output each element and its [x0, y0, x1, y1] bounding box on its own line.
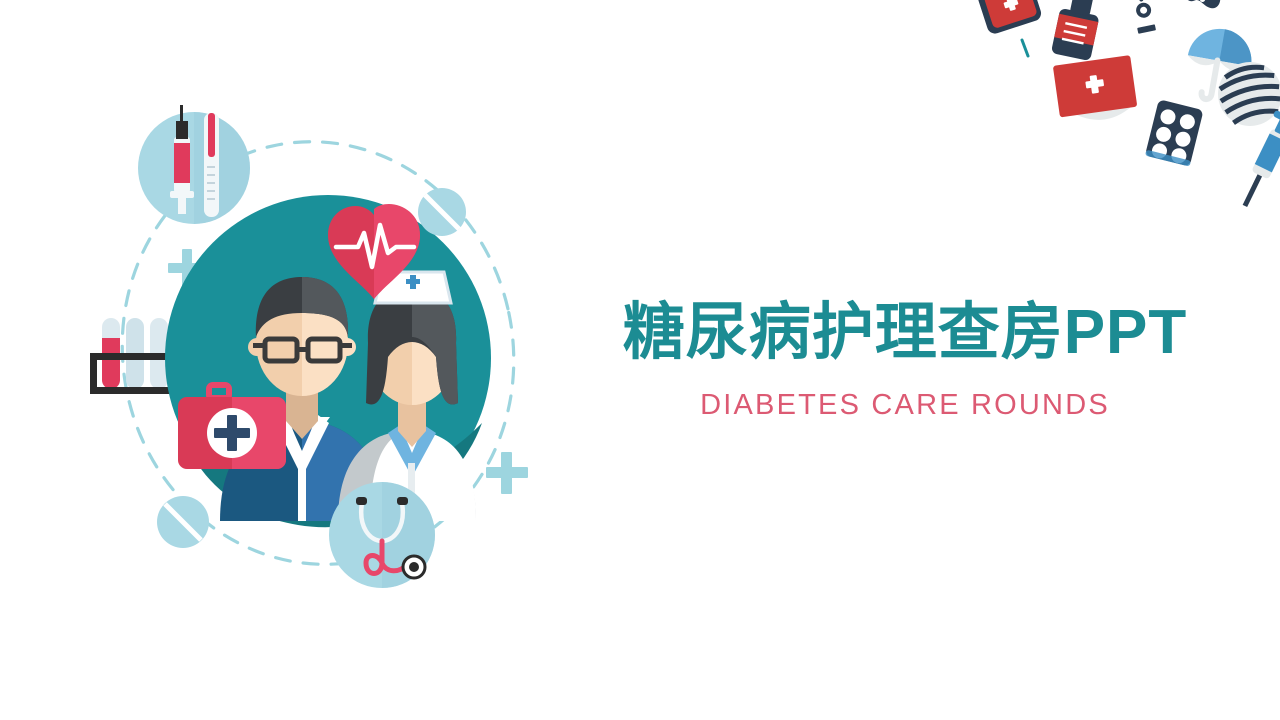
syringe-thermometer-icon [138, 105, 250, 224]
tick-mark-accent [1022, 40, 1028, 56]
topright-illustration-group [950, 0, 1280, 217]
first-aid-kit-icon [1053, 55, 1138, 120]
presentation-slide: 糖尿病护理查房PPT DIABETES CARE ROUNDS [0, 0, 1280, 720]
tooth-icon [1176, 0, 1222, 13]
title-block: 糖尿病护理查房PPT DIABETES CARE ROUNDS [615, 300, 1195, 422]
pill-icon-bottom [157, 496, 209, 548]
pill-icon-top [418, 188, 466, 236]
pill-blister-pack-icon [1145, 99, 1204, 166]
left-illustration-group [70, 85, 590, 615]
medicine-bottle-icon [1051, 0, 1106, 61]
page-subtitle: DIABETES CARE ROUNDS [615, 389, 1195, 422]
striped-ball-icon [1211, 55, 1280, 133]
page-title: 糖尿病护理查房PPT [615, 300, 1195, 367]
stethoscope-icon [329, 482, 435, 588]
thermometer-sub-icon [204, 113, 219, 217]
thermometer-marks-icon [1129, 0, 1156, 34]
first-aid-tablet-icon [976, 0, 1043, 36]
